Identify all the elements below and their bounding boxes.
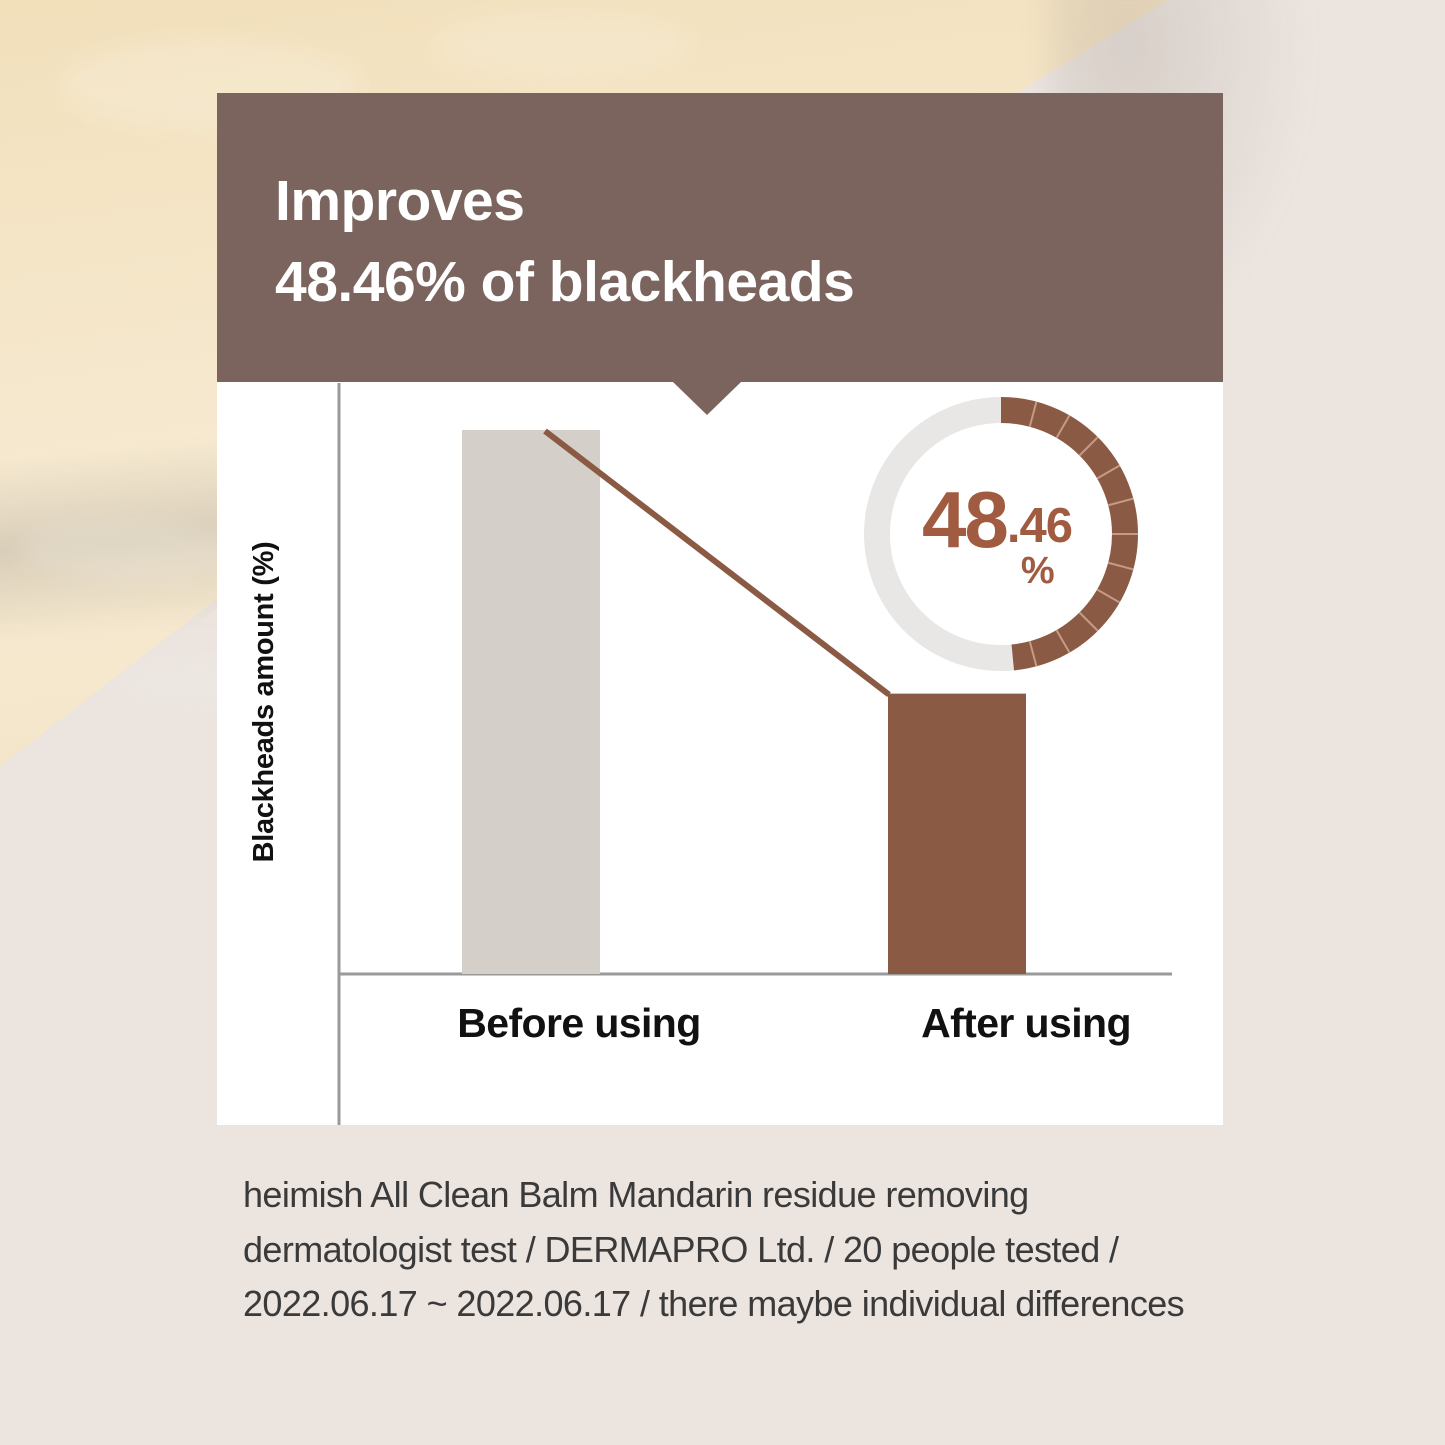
- callout-headline: Improves 48.46% of blackheads: [275, 161, 1223, 323]
- study-caption: heimish All Clean Balm Mandarin residue …: [243, 1168, 1203, 1332]
- donut-svg: [856, 389, 1146, 679]
- x-tick-after-using: After using: [842, 1000, 1210, 1047]
- balm-gloss-highlight: [20, 520, 240, 580]
- bar-after-using: [888, 694, 1026, 974]
- y-axis-title: Blackheads amount (%): [248, 482, 281, 922]
- callout-banner: Improves 48.46% of blackheads: [217, 93, 1223, 382]
- bar-chart: Blackheads amount (%) Before using After…: [217, 382, 1223, 1125]
- results-card: Improves 48.46% of blackheads Blackheads…: [217, 93, 1223, 1125]
- balm-gloss-highlight: [430, 10, 690, 80]
- x-tick-before-using: Before using: [395, 1000, 763, 1047]
- percentage-donut-gauge: 48 .46 %: [856, 389, 1146, 679]
- bar-before-using: [462, 430, 600, 974]
